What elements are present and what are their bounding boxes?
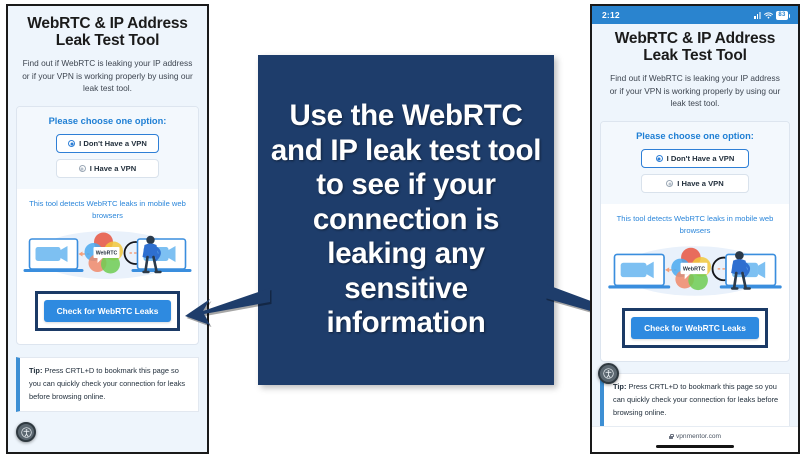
- radio-option-have-vpn-label: I Have a VPN: [677, 179, 723, 188]
- callout-box: Use the WebRTC and IP leak test tool to …: [258, 55, 554, 385]
- leak-test-card: Please choose one option: I Don't Have a…: [600, 121, 790, 362]
- tip-box: Tip: Press CRTL+D to bookmark this page …: [16, 357, 199, 412]
- webrtc-illustration-svg: WebRTC: [601, 240, 789, 304]
- tip-box: Tip: Press CRTL+D to bookmark this page …: [600, 373, 790, 428]
- option-chooser: Please choose one option: I Don't Have a…: [601, 122, 789, 204]
- tip-text: Press CRTL+D to bookmark this page so yo…: [613, 382, 778, 417]
- browser-footer: vpnmentor.com: [592, 426, 798, 452]
- page-title: WebRTC & IP Address Leak Test Tool: [600, 30, 790, 65]
- radio-option-no-vpn[interactable]: I Don't Have a VPN: [56, 134, 159, 153]
- battery-indicator: 83: [776, 11, 788, 20]
- laptop-right-icon: [132, 239, 192, 272]
- radio-option-no-vpn-label: I Don't Have a VPN: [79, 139, 147, 148]
- choose-option-label: Please choose one option:: [611, 131, 779, 141]
- accessibility-widget-button[interactable]: [598, 363, 619, 384]
- tip-label: Tip:: [29, 366, 42, 375]
- page-subtitle: Find out if WebRTC is leaking your IP ad…: [600, 72, 790, 111]
- desktop-screenshot-panel: WebRTC & IP Address Leak Test Tool Find …: [6, 4, 209, 454]
- accessibility-person-icon: [603, 368, 614, 379]
- radio-indicator-no-vpn: [68, 140, 75, 147]
- tip-text: Press CRTL+D to bookmark this page so yo…: [29, 366, 185, 401]
- accessibility-widget-button[interactable]: [16, 422, 36, 442]
- home-indicator: [656, 445, 734, 448]
- address-bar[interactable]: vpnmentor.com: [592, 427, 798, 440]
- radio-indicator-have-vpn: [79, 165, 86, 172]
- webrtc-illustration-svg: WebRTC: [17, 225, 198, 287]
- svg-text:WebRTC: WebRTC: [683, 267, 705, 273]
- radio-indicator-no-vpn: [656, 155, 663, 162]
- check-for-webrtc-leaks-button[interactable]: Check for WebRTC Leaks: [631, 317, 759, 339]
- radio-option-no-vpn-label: I Don't Have a VPN: [667, 154, 735, 163]
- cta-highlight-box: Check for WebRTC Leaks: [622, 308, 768, 348]
- status-bar-indicators: 83: [754, 11, 788, 20]
- webrtc-illustration: WebRTC: [601, 240, 789, 304]
- choose-option-label: Please choose one option:: [27, 116, 188, 126]
- detect-note: This tool detects WebRTC leaks in mobile…: [601, 204, 789, 240]
- laptop-left-icon: [608, 255, 670, 289]
- radio-indicator-have-vpn: [666, 180, 673, 187]
- screenshot-composite: WebRTC & IP Address Leak Test Tool Find …: [0, 0, 806, 458]
- cta-container: Check for WebRTC Leaks: [601, 304, 789, 361]
- lock-icon: [669, 434, 673, 440]
- radio-option-no-vpn[interactable]: I Don't Have a VPN: [641, 149, 749, 168]
- callout-text: Use the WebRTC and IP leak test tool to …: [268, 99, 544, 341]
- radio-option-have-vpn[interactable]: I Have a VPN: [56, 159, 159, 178]
- check-for-webrtc-leaks-button[interactable]: Check for WebRTC Leaks: [44, 300, 172, 322]
- wifi-icon: [764, 12, 773, 19]
- status-bar-time: 2:12: [602, 10, 620, 20]
- mobile-screenshot-panel: 2:12 83 WebRTC & IP Address Leak Test To…: [590, 4, 800, 454]
- radio-option-have-vpn[interactable]: I Have a VPN: [641, 174, 749, 193]
- mobile-content: WebRTC & IP Address Leak Test Tool Find …: [592, 24, 798, 428]
- svg-text:WebRTC: WebRTC: [96, 251, 118, 257]
- cellular-signal-icon: [754, 12, 761, 19]
- webrtc-illustration: WebRTC: [17, 225, 198, 287]
- page-title: WebRTC & IP Address Leak Test Tool: [16, 15, 199, 50]
- radio-option-have-vpn-label: I Have a VPN: [90, 164, 136, 173]
- phone-status-bar: 2:12 83: [592, 6, 798, 24]
- laptop-left-icon: [24, 239, 84, 272]
- page-subtitle: Find out if WebRTC is leaking your IP ad…: [16, 57, 199, 96]
- laptop-right-icon: [720, 255, 782, 289]
- detect-note: This tool detects WebRTC leaks in mobile…: [17, 189, 198, 225]
- option-chooser: Please choose one option: I Don't Have a…: [17, 107, 198, 189]
- arrow-pointing-to-desktop-button: [160, 280, 270, 360]
- url-text: vpnmentor.com: [676, 433, 721, 440]
- accessibility-person-icon: [21, 427, 32, 438]
- tip-label: Tip:: [613, 382, 626, 391]
- cta-highlight-box: Check for WebRTC Leaks: [35, 291, 181, 331]
